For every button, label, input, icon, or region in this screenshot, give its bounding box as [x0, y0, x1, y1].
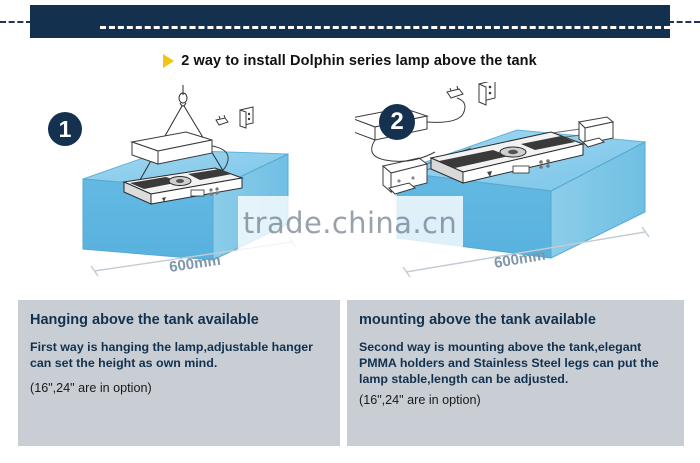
- triangle-right-icon: [163, 54, 174, 68]
- step-badge-1: 1: [48, 112, 82, 146]
- info-panel-mounting: mounting above the tank available Second…: [347, 300, 684, 446]
- socket-icon: [240, 107, 253, 128]
- header-dash-left: [0, 21, 32, 23]
- info-panel-hanging: Hanging above the tank available First w…: [18, 300, 340, 446]
- header-dashed-line: [100, 26, 670, 29]
- panel-note: (16",24" are in option): [359, 392, 672, 408]
- step-badge-2: 2: [379, 104, 415, 140]
- panel-body: First way is hanging the lamp,adjustable…: [30, 339, 328, 372]
- header-banner: [0, 0, 700, 44]
- panel-body: Second way is mounting above the tank,el…: [359, 339, 672, 388]
- header-bar: [30, 5, 670, 38]
- info-panels: Hanging above the tank available First w…: [18, 300, 684, 446]
- panel-note: (16",24" are in option): [30, 380, 328, 396]
- header-dash-right: [668, 21, 700, 23]
- section-title-text: 2 way to install Dolphin series lamp abo…: [181, 53, 537, 69]
- panel-heading: Hanging above the tank available: [30, 312, 328, 329]
- section-title: 2 way to install Dolphin series lamp abo…: [0, 48, 700, 74]
- plug-icon: [216, 115, 228, 125]
- panel-heading: mounting above the tank available: [359, 312, 672, 329]
- aquarium-tank: [83, 150, 288, 260]
- socket-icon: [479, 82, 495, 105]
- product-info-graphic: 2 way to install Dolphin series lamp abo…: [0, 0, 700, 463]
- plug-icon: [447, 86, 463, 98]
- ceiling-hook: [179, 85, 187, 106]
